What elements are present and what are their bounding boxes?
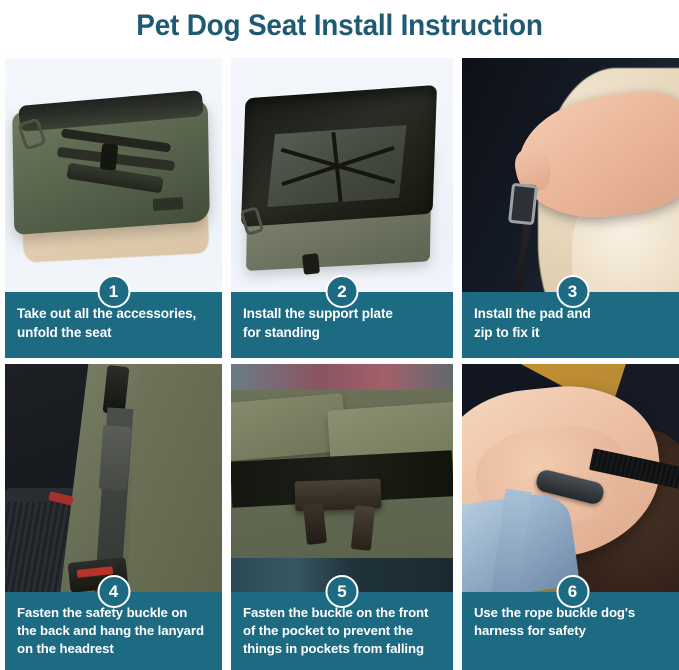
step-panel-3: 3 Install the pad and zip to fix it (462, 58, 679, 358)
step-number-badge-5: 5 (326, 575, 359, 608)
step-number-badge-2: 2 (326, 275, 359, 308)
step-number-badge-1: 1 (97, 275, 130, 308)
step-panel-6: 6 Use the rope buckle dog's harness for … (462, 364, 679, 670)
step-panel-2: 2 Install the support plate for standing (231, 58, 453, 358)
car-window-background-shape (231, 364, 453, 390)
step-panel-1: 1 Take out all the accessories, unfold t… (5, 58, 222, 358)
step-number-badge-4: 4 (97, 575, 130, 608)
step-caption-text: Fasten the buckle on the front of the po… (243, 604, 443, 659)
instruction-infographic: Pet Dog Seat Install Instruction 1 Take … (0, 0, 679, 670)
step-number-badge-6: 6 (556, 575, 589, 608)
strap-pad-shape (99, 425, 131, 491)
buckle-tab-shape (303, 503, 327, 545)
step-caption-text: Install the pad and zip to fix it (474, 304, 673, 342)
title-bar: Pet Dog Seat Install Instruction (0, 0, 679, 52)
step-number-badge-3: 3 (556, 275, 589, 308)
buckle-shape (100, 143, 119, 171)
step-panel-4: 4 Fasten the safety buckle on the back a… (5, 364, 222, 670)
page-title: Pet Dog Seat Install Instruction (136, 9, 542, 43)
label-tag-shape (153, 197, 184, 211)
step-caption-text: Install the support plate for standing (243, 304, 443, 342)
step-caption-text: Fasten the safety buckle on the back and… (17, 604, 212, 659)
step-caption-text: Take out all the accessories, unfold the… (17, 304, 212, 342)
steps-grid: 1 Take out all the accessories, unfold t… (0, 58, 679, 670)
zipper-pull-shape (508, 183, 538, 225)
step-caption-text: Use the rope buckle dog's harness for sa… (474, 604, 673, 640)
clip-shape (302, 253, 320, 275)
step-panel-5: 5 Fasten the buckle on the front of the … (231, 364, 453, 670)
